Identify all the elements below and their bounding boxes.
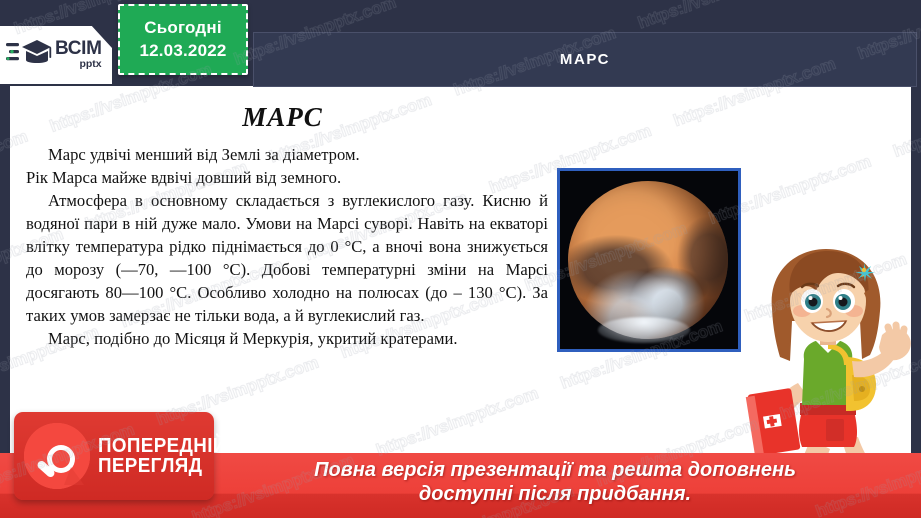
book <box>746 388 801 456</box>
page-title: МАРС <box>10 102 555 133</box>
document-body: Марс удвічі менший від Землі за діаметро… <box>26 144 548 351</box>
brand-name: ВСІМ <box>55 39 102 58</box>
paragraph-4: Марс, подібно до Місяця й Меркурія, укри… <box>26 328 548 351</box>
brand-suffix: pptx <box>55 59 102 70</box>
date-badge-label: Сьогодні <box>144 17 222 40</box>
mars-image-frame <box>557 168 741 352</box>
date-badge-date: 12.03.2022 <box>139 40 226 63</box>
banner-line-1: Повна версія презентації та решта доповн… <box>260 458 850 482</box>
brand-logo-plate[interactable]: ВСІМ pptx <box>0 26 112 84</box>
preview-badge-line1: ПОПЕРЕДНІЙ <box>98 436 227 456</box>
mars-planet-photo <box>560 171 738 349</box>
slide-title-bar: МАРС <box>253 32 917 87</box>
preview-badge-line2: ПЕРЕГЛЯД <box>98 456 227 476</box>
magnifier-icon <box>24 423 90 489</box>
paragraph-2: Рік Марса майже вдвічі довший від земног… <box>26 167 548 190</box>
preview-badge[interactable]: ПОПЕРЕДНІЙ ПЕРЕГЛЯД <box>14 412 214 500</box>
paragraph-3: Атмосфера в основному складається з вугл… <box>26 190 548 328</box>
graduation-cap-icon <box>6 34 52 74</box>
date-badge: Сьогодні 12.03.2022 <box>118 4 248 75</box>
slide-title: МАРС <box>560 51 610 68</box>
banner-text: Повна версія презентації та решта доповн… <box>260 458 850 507</box>
paragraph-1: Марс удвічі менший від Землі за діаметро… <box>26 144 548 167</box>
slide-root: ВСІМ pptx Сьогодні 12.03.2022 МАРС МАРС … <box>0 0 921 518</box>
banner-line-2: доступні після придбання. <box>260 482 850 506</box>
